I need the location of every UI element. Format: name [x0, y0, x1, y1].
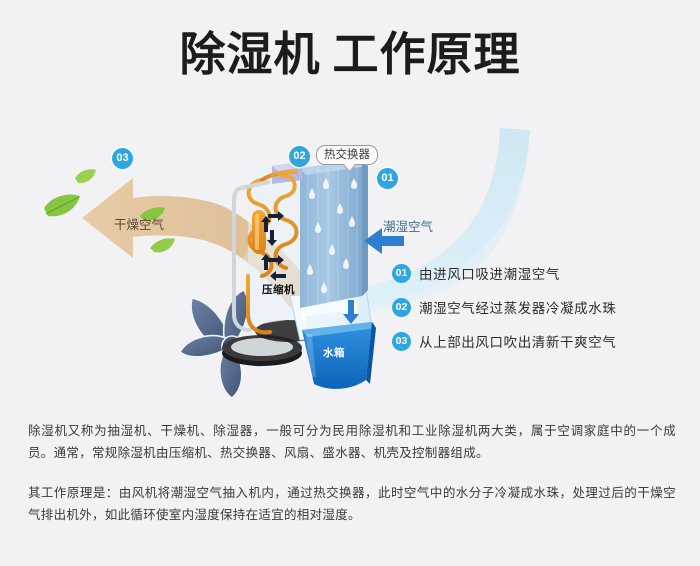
paragraph-2: 其工作原理是：由风机将潮湿空气抽入机内，通过热交换器，此时空气中的水分子冷凝成水…	[28, 482, 676, 526]
badge-01-humid-air: 01	[377, 168, 398, 189]
title-line: 除湿机工作原理	[0, 28, 700, 81]
legend-item-02: 02 潮湿空气经过蒸发器冷凝成水珠	[392, 290, 692, 324]
title-part-2: 工作原理	[333, 28, 521, 80]
legend-badge-02: 02	[392, 298, 411, 317]
coil-capsule-shape	[252, 210, 266, 254]
description-block: 除湿机又称为抽湿机、干燥机、除湿器，一般可分为民用除湿机和工业除湿机两大类，属于…	[28, 420, 676, 526]
humid-air-label: 潮湿空气	[383, 216, 433, 235]
water-tank-label: 水箱	[323, 345, 345, 360]
page-title: 除湿机工作原理	[0, 28, 700, 81]
legend-list: 01 由进风口吸进潮湿空气 02 潮湿空气经过蒸发器冷凝成水珠 03 从上部出风…	[392, 256, 692, 358]
badge-02-heat-exchanger: 02	[289, 146, 310, 167]
heat-exchanger-callout: 热交换器	[316, 145, 378, 165]
legend-badge-01: 01	[392, 264, 411, 283]
legend-text-03: 从上部出风口吹出清新干爽空气	[419, 331, 616, 351]
paragraph-1: 除湿机又称为抽湿机、干燥机、除湿器，一般可分为民用除湿机和工业除湿机两大类，属于…	[28, 420, 676, 464]
dry-air-label: 干燥空气	[114, 214, 164, 233]
title-part-1: 除湿机	[180, 28, 321, 80]
compressor-label: 压缩机	[262, 282, 295, 297]
legend-item-01: 01 由进风口吸进潮湿空气	[392, 256, 692, 290]
badge-03-dry-air: 03	[112, 148, 133, 169]
legend-badge-03: 03	[392, 332, 411, 351]
legend-item-03: 03 从上部出风口吹出清新干爽空气	[392, 324, 692, 358]
legend-text-01: 由进风口吸进潮湿空气	[419, 263, 560, 283]
legend-text-02: 潮湿空气经过蒸发器冷凝成水珠	[419, 297, 616, 317]
evaporator-shape	[300, 160, 368, 308]
